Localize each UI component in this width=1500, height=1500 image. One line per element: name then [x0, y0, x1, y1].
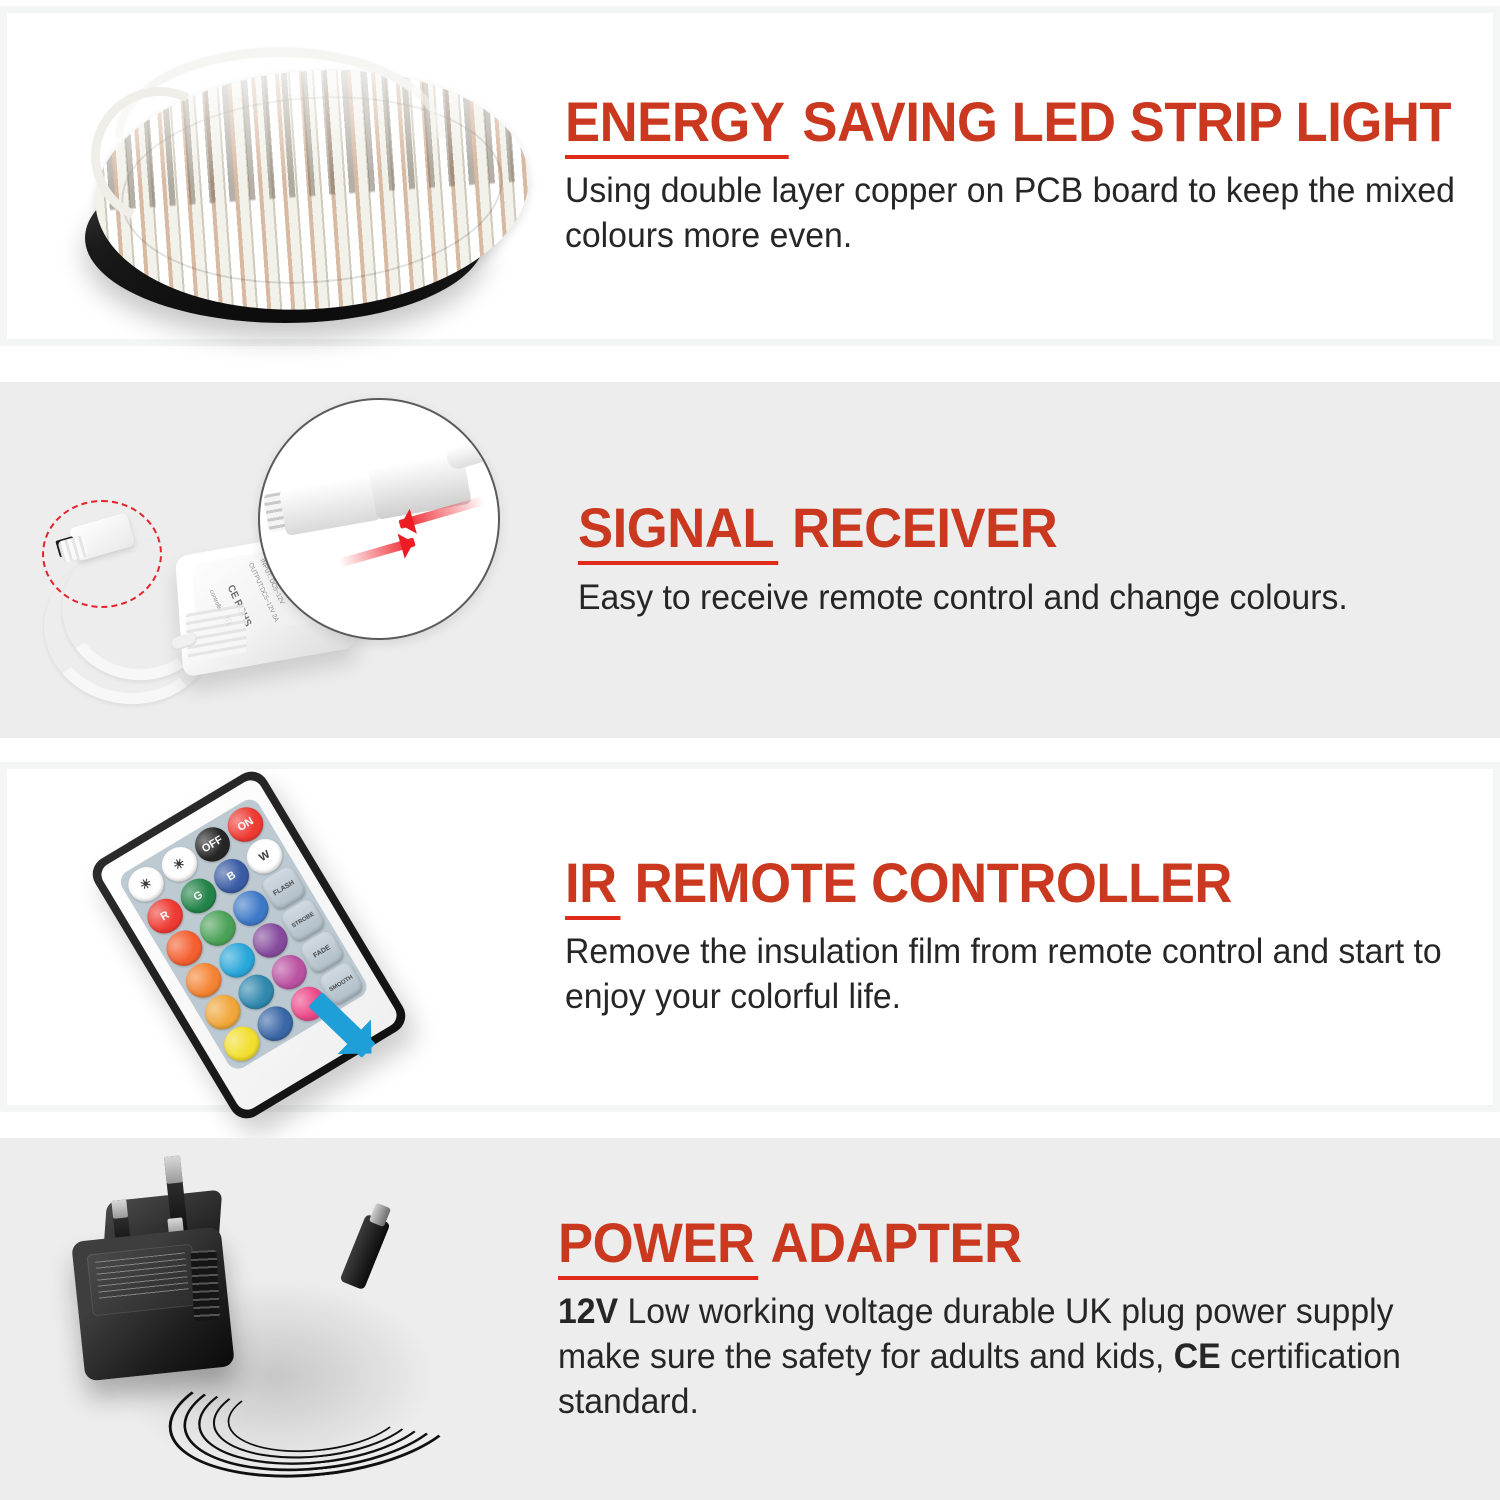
power-adapter-photo [0, 1138, 540, 1500]
section-body-text: Easy to receive remote control and chang… [578, 576, 1468, 621]
section-copy: ENERGY SAVING LED STRIP LIGHT Using doub… [547, 93, 1500, 259]
section-copy: IR REMOTE CONTROLLER Remove the insulati… [547, 854, 1493, 1020]
section-body-text: Using double layer copper on PCB board t… [565, 169, 1475, 259]
signal-receiver-illustration: 7HR-0SE4-801 INPUT: DC5~12V OUTPUT:DC5~1… [10, 392, 555, 728]
led-strip-reel-photo [7, 13, 547, 339]
headline-underlined-word: SIGNAL [578, 496, 778, 565]
headline-underlined-word: POWER [558, 1211, 758, 1280]
section-signal-receiver: 7HR-0SE4-801 INPUT: DC5~12V OUTPUT:DC5~1… [0, 382, 1500, 738]
ir-remote-controller-photo: ☀☀OFFONRGBWFLASHSTROBEFADESMOOTH [7, 769, 547, 1105]
insert-arrow-right-icon [338, 537, 415, 567]
connector-callout-circle [42, 500, 162, 608]
inset-connector-left [279, 474, 382, 536]
section-power-adapter: POWER ADAPTER 12V Low working voltage du… [0, 1138, 1500, 1500]
page-title: IR REMOTE CONTROLLER [565, 854, 1437, 912]
led-strip-reel-illustration [67, 35, 497, 325]
adapter-rating-label [86, 1244, 198, 1317]
power-adapter-illustration [50, 1156, 520, 1482]
page-title: ENERGY SAVING LED STRIP LIGHT [565, 93, 1451, 151]
adapter-cable-coil [168, 1352, 458, 1470]
remote-keypad: ☀☀OFFONRGBWFLASHSTROBEFADESMOOTH [116, 795, 371, 1073]
infographic-page: ENERGY SAVING LED STRIP LIGHT Using doub… [0, 0, 1500, 1500]
section-ir-remote-controller: ☀☀OFFONRGBWFLASHSTROBEFADESMOOTH IR REMO… [0, 762, 1500, 1112]
section-copy: POWER ADAPTER 12V Low working voltage du… [540, 1214, 1500, 1425]
headline-rest: SAVING LED STRIP LIGHT [788, 90, 1451, 153]
page-title: SIGNAL RECEIVER [578, 499, 1445, 557]
section-energy-saving-led-strip-light: ENERGY SAVING LED STRIP LIGHT Using doub… [0, 6, 1500, 346]
headline-underlined-word: ENERGY [565, 90, 788, 159]
headline-rest: REMOTE CONTROLLER [620, 851, 1231, 914]
headline-underlined-word: IR [565, 851, 620, 920]
body-bold-voltage: 12V [558, 1292, 618, 1331]
headline-rest: ADAPTER [758, 1211, 1021, 1274]
inset-cable [444, 431, 500, 471]
section-copy: SIGNAL RECEIVER Easy to receive remote c… [560, 499, 1500, 620]
remote-illustration: ☀☀OFFONRGBWFLASHSTROBEFADESMOOTH [77, 789, 507, 1099]
headline-rest: RECEIVER [778, 496, 1058, 559]
section-body-text: Remove the insulation film from remote c… [565, 930, 1461, 1020]
page-title: POWER ADAPTER [558, 1214, 1443, 1272]
signal-receiver-photo: 7HR-0SE4-801 INPUT: DC5~12V OUTPUT:DC5~1… [0, 382, 560, 738]
body-bold-ce: CE [1174, 1337, 1221, 1376]
connector-zoom-inset [258, 398, 500, 640]
section-body-text: 12V Low working voltage durable UK plug … [558, 1290, 1467, 1424]
adapter-vent-grille [191, 1250, 221, 1321]
